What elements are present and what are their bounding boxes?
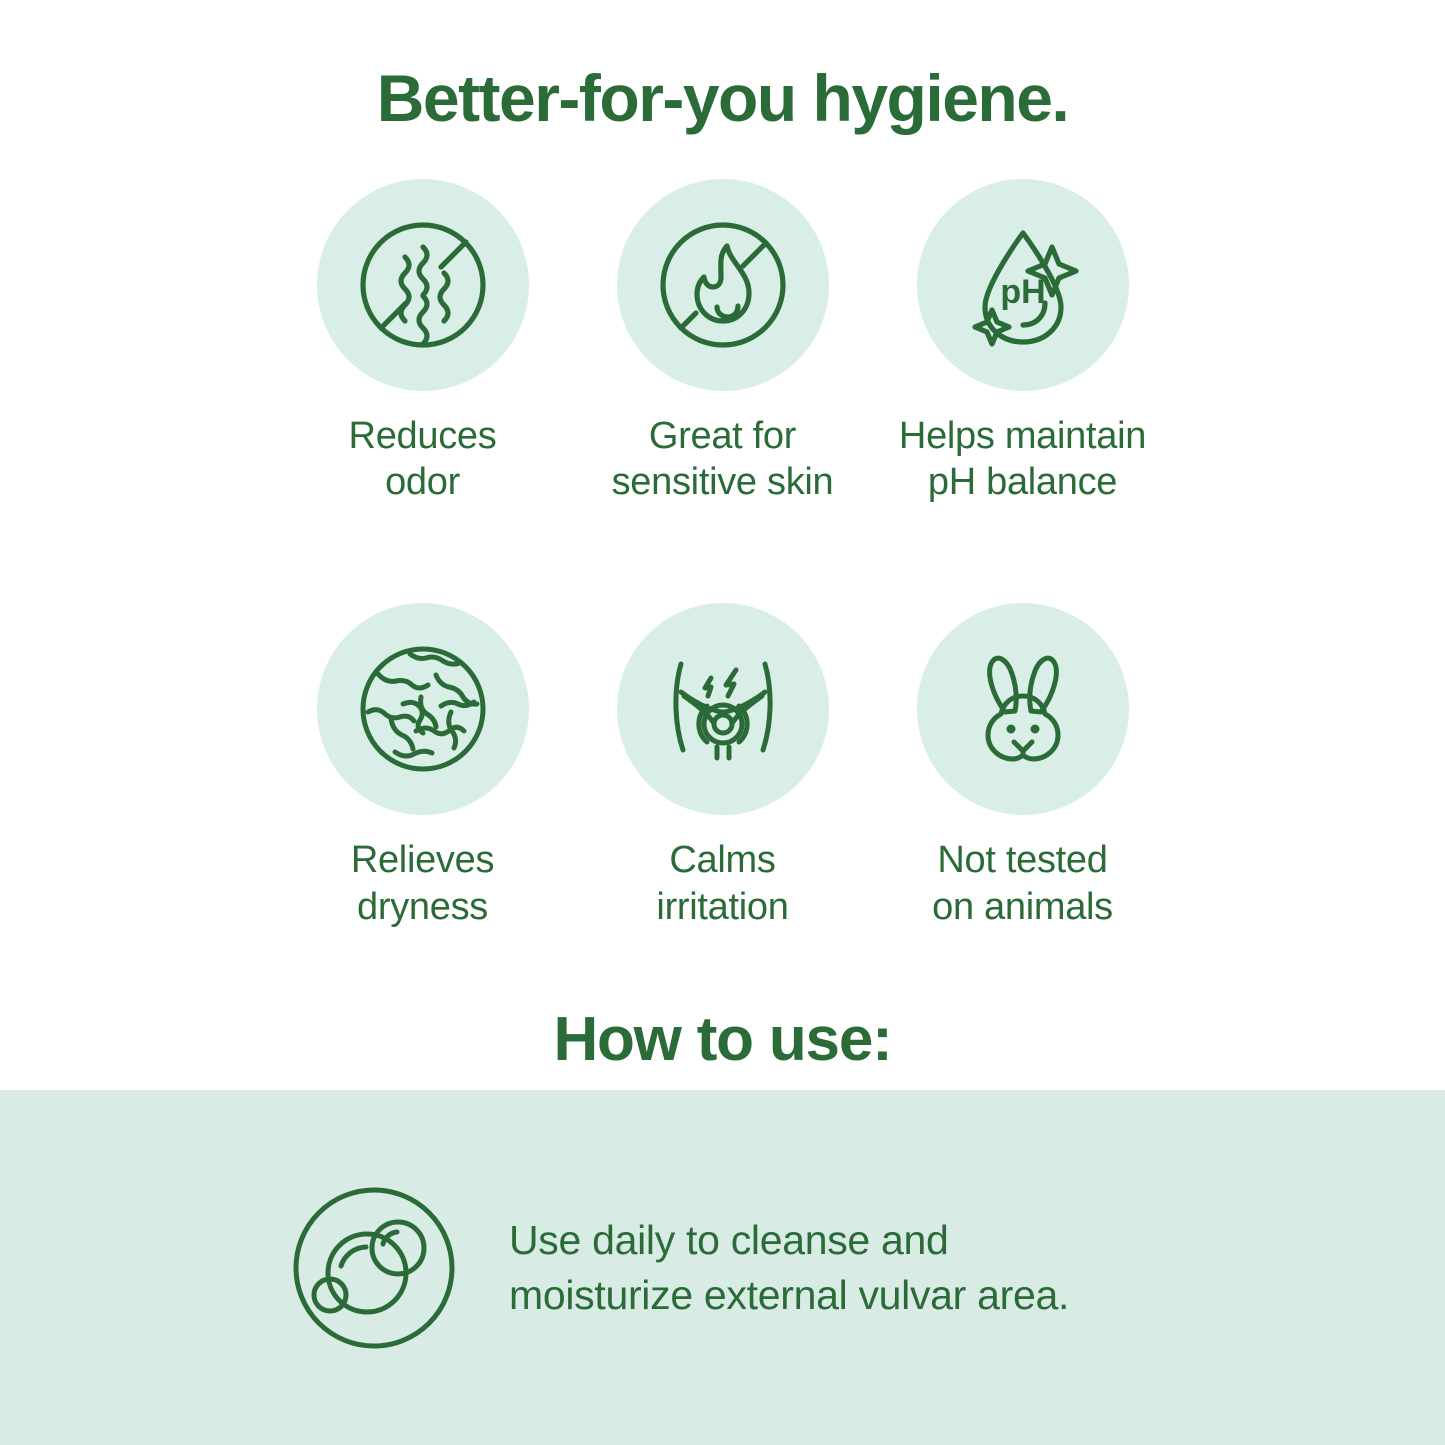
benefit-badge: [317, 603, 529, 815]
benefit-item-not-tested-on-animals: Not tested on animals: [873, 603, 1173, 930]
page-title: Better-for-you hygiene.: [0, 62, 1445, 135]
benefit-label: Relieves dryness: [351, 837, 494, 930]
benefit-label: Not tested on animals: [932, 837, 1113, 930]
benefit-label: Reduces odor: [349, 413, 497, 506]
usage-instruction-row: Use daily to cleanse and moisturize exte…: [283, 1177, 1069, 1359]
howto-heading: How to use:: [0, 1004, 1445, 1075]
bubbles-icon: [283, 1177, 465, 1359]
benefit-label: Helps maintain pH balance: [899, 413, 1146, 506]
no-odor-icon: [348, 210, 498, 360]
product-benefits-infographic: Better-for-you hygiene.: [0, 0, 1445, 1445]
ph-droplet-icon: pH: [948, 210, 1098, 360]
headline-section: Better-for-you hygiene.: [0, 0, 1445, 135]
rabbit-icon: [948, 634, 1098, 784]
usage-instruction-text: Use daily to cleanse and moisturize exte…: [509, 1213, 1069, 1321]
benefit-badge: pH: [917, 179, 1129, 391]
dry-cracked-skin-icon: [348, 634, 498, 784]
benefit-item-relieves-dryness: Relieves dryness: [273, 603, 573, 930]
pelvic-irritation-icon: [648, 634, 798, 784]
howto-heading-section: How to use:: [0, 1004, 1445, 1075]
benefits-grid: Reduces odor Great for sensitive skin: [273, 179, 1173, 930]
benefit-item-reduces-odor: Reduces odor: [273, 179, 573, 506]
usage-instruction-band: Use daily to cleanse and moisturize exte…: [0, 1090, 1445, 1445]
ph-label: pH: [1000, 273, 1045, 311]
benefit-item-sensitive-skin: Great for sensitive skin: [573, 179, 873, 506]
benefit-badge: [617, 603, 829, 815]
benefit-badge: [317, 179, 529, 391]
benefit-item-ph-balance: pH Helps maintain pH balance: [873, 179, 1173, 506]
benefit-item-calms-irritation: Calms irritation: [573, 603, 873, 930]
benefit-badge: [917, 603, 1129, 815]
benefit-badge: [617, 179, 829, 391]
benefit-label: Great for sensitive skin: [612, 413, 834, 506]
benefit-label: Calms irritation: [656, 837, 788, 930]
no-burning-flame-icon: [648, 210, 798, 360]
